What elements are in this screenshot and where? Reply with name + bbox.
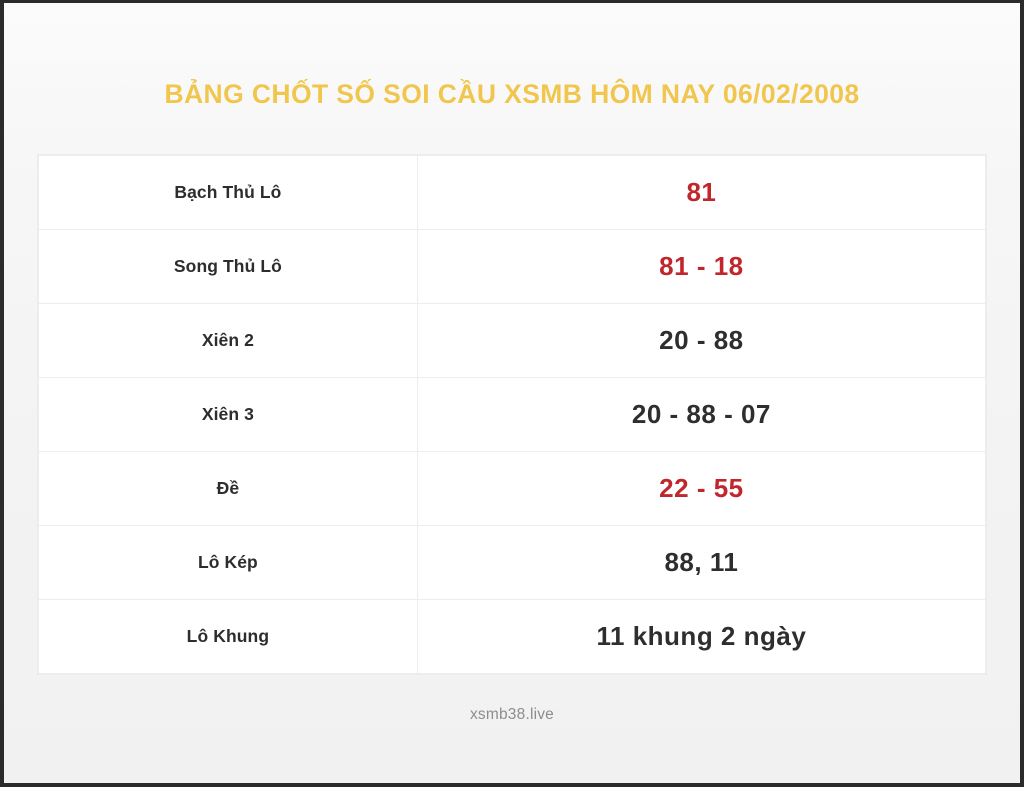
table-row: Đề22 - 55	[39, 452, 986, 526]
table-row: Xiên 220 - 88	[39, 304, 986, 378]
results-table: Bạch Thủ Lô81Song Thủ Lô81 - 18Xiên 220 …	[38, 155, 986, 674]
table-row: Lô Kép88, 11	[39, 526, 986, 600]
page-title: BẢNG CHỐT SỐ SOI CẦU XSMB HÔM NAY 06/02/…	[4, 79, 1020, 110]
results-table-container: Bạch Thủ Lô81Song Thủ Lô81 - 18Xiên 220 …	[38, 155, 986, 674]
row-value: 22 - 55	[417, 452, 985, 526]
row-label: Lô Kép	[39, 526, 418, 600]
row-label: Xiên 2	[39, 304, 418, 378]
table-row: Bạch Thủ Lô81	[39, 156, 986, 230]
row-value: 11 khung 2 ngày	[417, 600, 985, 674]
row-value: 20 - 88 - 07	[417, 378, 985, 452]
row-label: Bạch Thủ Lô	[39, 156, 418, 230]
row-value: 20 - 88	[417, 304, 985, 378]
row-label: Xiên 3	[39, 378, 418, 452]
row-value: 88, 11	[417, 526, 985, 600]
table-row: Xiên 320 - 88 - 07	[39, 378, 986, 452]
row-label: Lô Khung	[39, 600, 418, 674]
results-table-body: Bạch Thủ Lô81Song Thủ Lô81 - 18Xiên 220 …	[39, 156, 986, 674]
row-value: 81	[417, 156, 985, 230]
table-row: Lô Khung11 khung 2 ngày	[39, 600, 986, 674]
row-label: Song Thủ Lô	[39, 230, 418, 304]
site-watermark: xsmb38.live	[4, 706, 1020, 724]
table-row: Song Thủ Lô81 - 18	[39, 230, 986, 304]
row-value: 81 - 18	[417, 230, 985, 304]
row-label: Đề	[39, 452, 418, 526]
poster-canvas: BẢNG CHỐT SỐ SOI CẦU XSMB HÔM NAY 06/02/…	[4, 3, 1020, 783]
